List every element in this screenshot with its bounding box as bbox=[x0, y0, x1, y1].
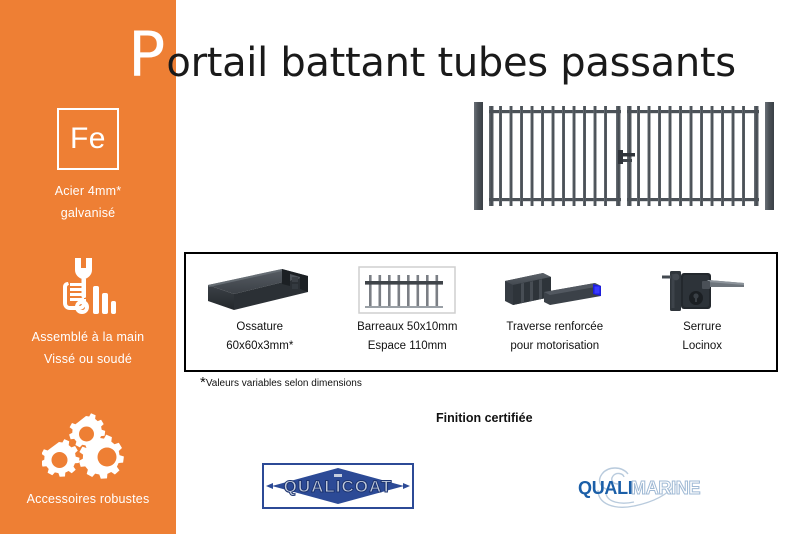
crossbar-label-line1: Traverse renforcée bbox=[506, 318, 603, 337]
qualimarine-wordmark-bold: QUALI bbox=[578, 478, 633, 498]
spec-cell-lock: Serrure Locinox bbox=[629, 254, 777, 370]
qualimarine-wordmark-light: MARINE bbox=[631, 478, 700, 498]
lock-icon bbox=[652, 265, 752, 315]
reinforced-crossbar-icon bbox=[499, 265, 611, 315]
specifications-box: Ossature 60x60x3mm* bbox=[184, 252, 778, 372]
footnote: *Valeurs variables selon dimensions bbox=[200, 378, 362, 389]
sidebar-block-steel: Fe Acier 4mm* galvanisé bbox=[0, 108, 176, 224]
crossbar-label-line2: pour motorisation bbox=[510, 337, 599, 356]
product-spec-sheet: Fe Acier 4mm* galvanisé bbox=[0, 0, 800, 534]
frame-profile-icon bbox=[204, 265, 316, 315]
spec-cell-crossbar: Traverse renforcée pour motorisation bbox=[481, 254, 629, 370]
steel-label-line1: Acier 4mm* bbox=[0, 180, 176, 202]
sidebar-block-accessories: Accessoires robustes bbox=[0, 412, 176, 510]
qualimarine-logo: QUALI MARINE bbox=[568, 460, 716, 512]
spec-cell-frame: Ossature 60x60x3mm* bbox=[186, 254, 334, 370]
lock-label-line1: Serrure bbox=[683, 318, 721, 337]
bars-label-line1: Barreaux 50x10mm bbox=[357, 318, 457, 337]
page-title: P ortail battant tubes passants bbox=[128, 24, 736, 88]
spec-cell-bars: Barreaux 50x10mm Espace 110mm bbox=[334, 254, 482, 370]
steel-label-line2: galvanisé bbox=[0, 202, 176, 224]
frame-profile-art bbox=[204, 262, 316, 318]
wrench-hand-icon bbox=[55, 256, 121, 318]
bars-label-line2: Espace 110mm bbox=[368, 337, 447, 356]
frame-label-line1: Ossature bbox=[236, 318, 283, 337]
title-drop-cap: P bbox=[128, 24, 165, 86]
fe-symbol: Fe bbox=[70, 124, 106, 154]
assembly-label-line1: Assemblé à la main bbox=[0, 326, 176, 348]
title-text: ortail battant tubes passants bbox=[166, 39, 735, 87]
accessories-label: Accessoires robustes bbox=[0, 488, 176, 510]
certified-finish-label: Finition certifiée bbox=[436, 411, 533, 425]
lock-art bbox=[652, 262, 752, 318]
bars-fence-icon bbox=[357, 265, 457, 315]
frame-label-line2: 60x60x3mm* bbox=[226, 337, 293, 356]
sidebar-block-assembly: Assemblé à la main Vissé ou soudé bbox=[0, 256, 176, 370]
fe-element-icon: Fe bbox=[57, 108, 119, 170]
qualicoat-logo: QUALICOAT bbox=[262, 463, 414, 509]
qualicoat-wordmark: QUALICOAT bbox=[284, 477, 393, 496]
gears-icon bbox=[42, 412, 134, 480]
bars-fence-art bbox=[357, 262, 457, 318]
gate-illustration bbox=[468, 98, 780, 216]
reinforced-crossbar-art bbox=[499, 262, 611, 318]
qualicoat-logo-art: QUALICOAT bbox=[264, 465, 412, 507]
qualimarine-logo-art: QUALI MARINE bbox=[568, 460, 716, 512]
footnote-text: Valeurs variables selon dimensions bbox=[206, 378, 362, 389]
double-swing-gate-illustration bbox=[468, 98, 780, 216]
assembly-label-line2: Vissé ou soudé bbox=[0, 348, 176, 370]
lock-label-line2: Locinox bbox=[682, 337, 722, 356]
